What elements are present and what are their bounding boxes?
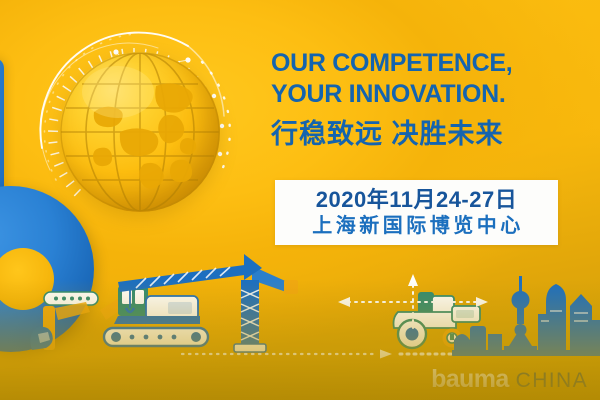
event-venue: 上海新国际博览中心 xyxy=(309,214,524,238)
headline-chinese: 行稳致远 决胜未来 xyxy=(271,117,581,151)
bauma-china-logo: bauma CHINA xyxy=(431,367,588,392)
logo-region: CHINA xyxy=(516,370,588,391)
logo-wordmark: bauma xyxy=(431,367,509,392)
machinery-scene xyxy=(0,250,600,365)
bauma-china-banner: OUR COMPETENCE, YOUR INNOVATION. 行稳致远 决胜… xyxy=(0,0,600,400)
headline-line-1: OUR COMPETENCE, xyxy=(271,48,581,79)
event-date: 2020年11月24-27日 xyxy=(316,187,517,212)
mini-excavator-arm xyxy=(30,292,98,350)
globe-graphic xyxy=(38,30,230,230)
globe-sphere xyxy=(60,52,220,212)
crawler-excavator xyxy=(100,286,208,346)
headline-line-2: YOUR INNOVATION. xyxy=(271,79,581,110)
headline-block: OUR COMPETENCE, YOUR INNOVATION. 行稳致远 决胜… xyxy=(271,48,581,151)
event-info-box: 2020年11月24-27日 上海新国际博览中心 xyxy=(275,180,558,245)
